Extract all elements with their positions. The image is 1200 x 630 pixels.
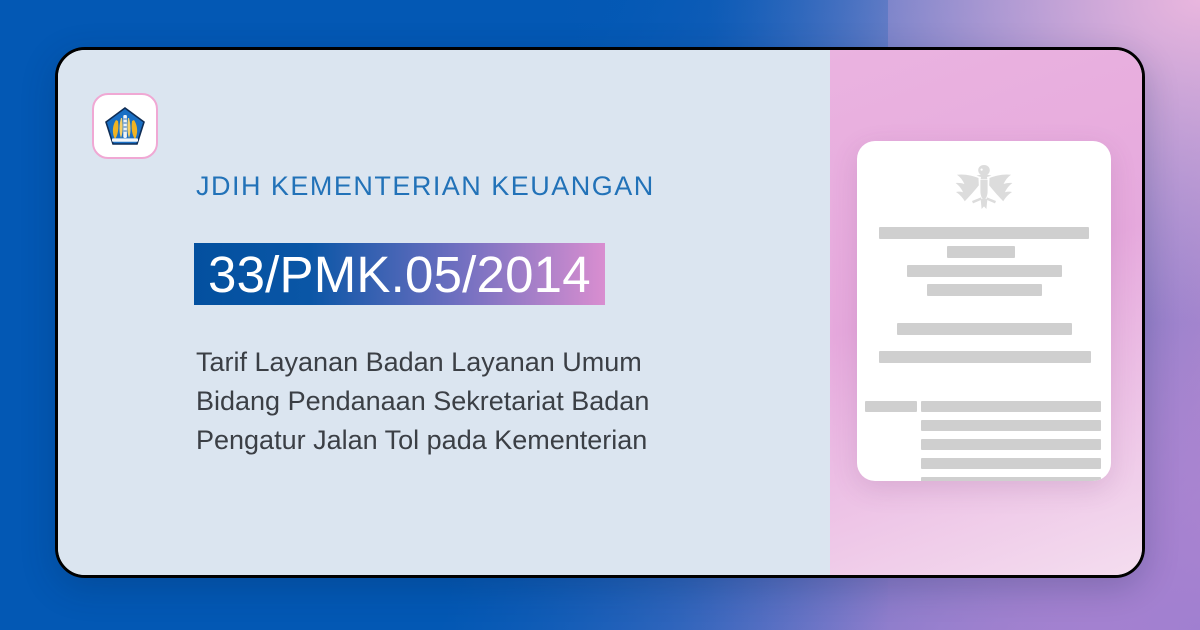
placeholder-bar	[921, 420, 1101, 431]
regulation-title: Tarif Layanan Badan Layanan Umum Bidang …	[196, 343, 796, 460]
document-page-thumbnail	[857, 141, 1111, 481]
document-thumbnail-panel	[830, 50, 1142, 575]
placeholder-bar	[921, 477, 1101, 481]
kemenkeu-logo-badge	[92, 93, 158, 159]
kemenkeu-pentagon-logo-icon	[103, 104, 147, 148]
regulation-number-badge: 33/PMK.05/2014	[194, 243, 605, 305]
site-name-label: JDIH KEMENTERIAN KEUANGAN	[196, 171, 655, 202]
info-panel: JDIH KEMENTERIAN KEUANGAN 33/PMK.05/2014…	[58, 50, 830, 575]
document-preview-card: JDIH KEMENTERIAN KEUANGAN 33/PMK.05/2014…	[55, 47, 1145, 578]
placeholder-bar	[879, 351, 1091, 363]
regulation-title-line-1: Tarif Layanan Badan Layanan Umum	[196, 343, 796, 382]
placeholder-bar	[921, 458, 1101, 469]
placeholder-bar	[947, 246, 1015, 258]
page-canvas: JDIH KEMENTERIAN KEUANGAN 33/PMK.05/2014…	[0, 0, 1200, 630]
placeholder-bar	[927, 284, 1042, 296]
placeholder-bar	[897, 323, 1072, 335]
regulation-number: 33/PMK.05/2014	[208, 249, 591, 300]
garuda-pancasila-emblem-icon	[952, 161, 1016, 218]
placeholder-bar	[879, 227, 1089, 239]
placeholder-bar	[907, 265, 1062, 277]
placeholder-bar	[921, 401, 1101, 412]
placeholder-bar	[865, 401, 917, 412]
placeholder-bar	[921, 439, 1101, 450]
regulation-title-line-2: Bidang Pendanaan Sekretariat Badan	[196, 382, 796, 421]
regulation-title-line-3: Pengatur Jalan Tol pada Kementerian	[196, 421, 796, 460]
